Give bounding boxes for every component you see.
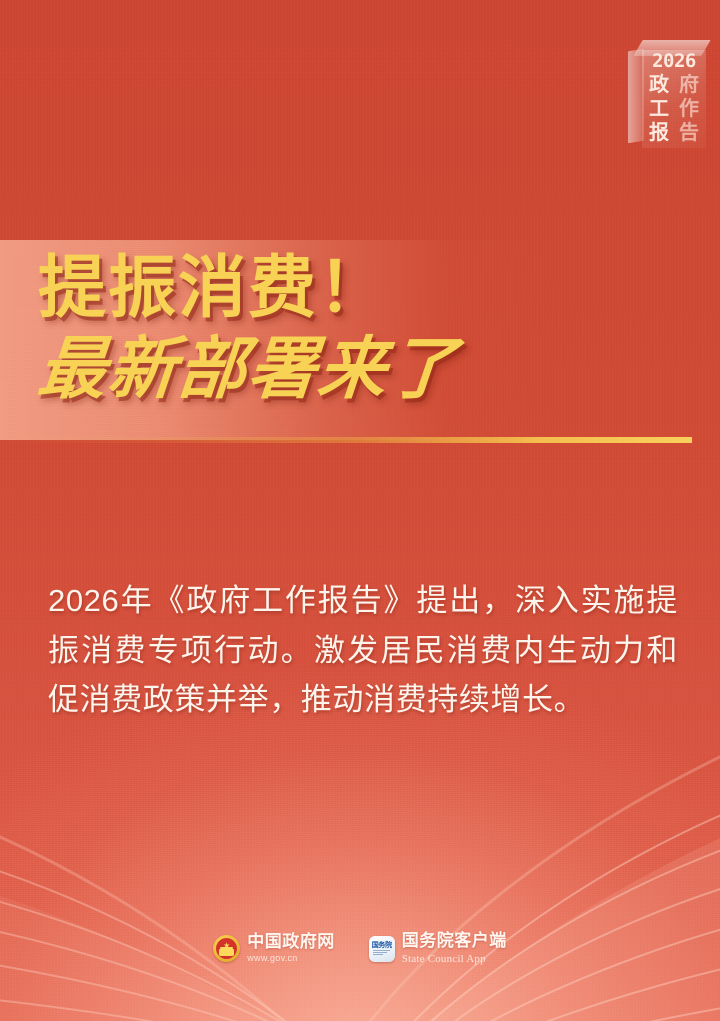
- logo-china-gov-text: 中国政府网 www.gov.cn: [247, 933, 335, 964]
- badge-char-4: 作: [679, 99, 699, 119]
- logo-china-gov-name: 中国政府网: [247, 933, 335, 952]
- badge-year: 2026: [644, 52, 704, 71]
- app-icon-label: 国务院: [372, 942, 392, 949]
- badge-char-6: 告: [679, 123, 699, 143]
- logo-state-council-app[interactable]: 国务院 国务院客户端 State Council App: [369, 932, 507, 965]
- national-emblem-icon: ★: [213, 935, 240, 962]
- poster-canvas: 2026 政 府 工 作 报 告 提振消费！ 最新部署来了 2026年《政府工作…: [0, 0, 720, 1021]
- badge-char-3: 工: [649, 99, 669, 119]
- app-icon-lines: [373, 950, 390, 955]
- headline-line-2: 最新部署来了: [35, 331, 682, 408]
- logo-state-council-sub: State Council App: [402, 953, 507, 965]
- logo-china-gov[interactable]: ★ 中国政府网 www.gov.cn: [213, 933, 335, 964]
- body-paragraph: 2026年《政府工作报告》提出，深入实施提振消费专项行动。激发居民消费内生动力和…: [48, 576, 678, 725]
- state-council-app-icon: 国务院: [369, 936, 395, 962]
- logo-china-gov-url: www.gov.cn: [247, 954, 335, 964]
- background-texture: [0, 0, 720, 1021]
- badge-title-grid: 政 府 工 作 报 告: [644, 73, 704, 145]
- badge-char-1: 政: [649, 75, 669, 95]
- badge-char-5: 报: [649, 123, 669, 143]
- badge-char-2: 府: [679, 75, 699, 95]
- logo-state-council-text: 国务院客户端 State Council App: [402, 932, 507, 965]
- government-work-report-badge: 2026 政 府 工 作 报 告: [628, 40, 706, 148]
- gold-divider-rule: [0, 437, 692, 443]
- logo-state-council-name: 国务院客户端: [402, 932, 507, 951]
- headline-block: 提振消费！ 最新部署来了: [38, 250, 678, 408]
- headline-line-1: 提振消费！: [38, 250, 678, 327]
- footer-logos: ★ 中国政府网 www.gov.cn 国务院 国务院客户端 State Coun…: [0, 932, 720, 965]
